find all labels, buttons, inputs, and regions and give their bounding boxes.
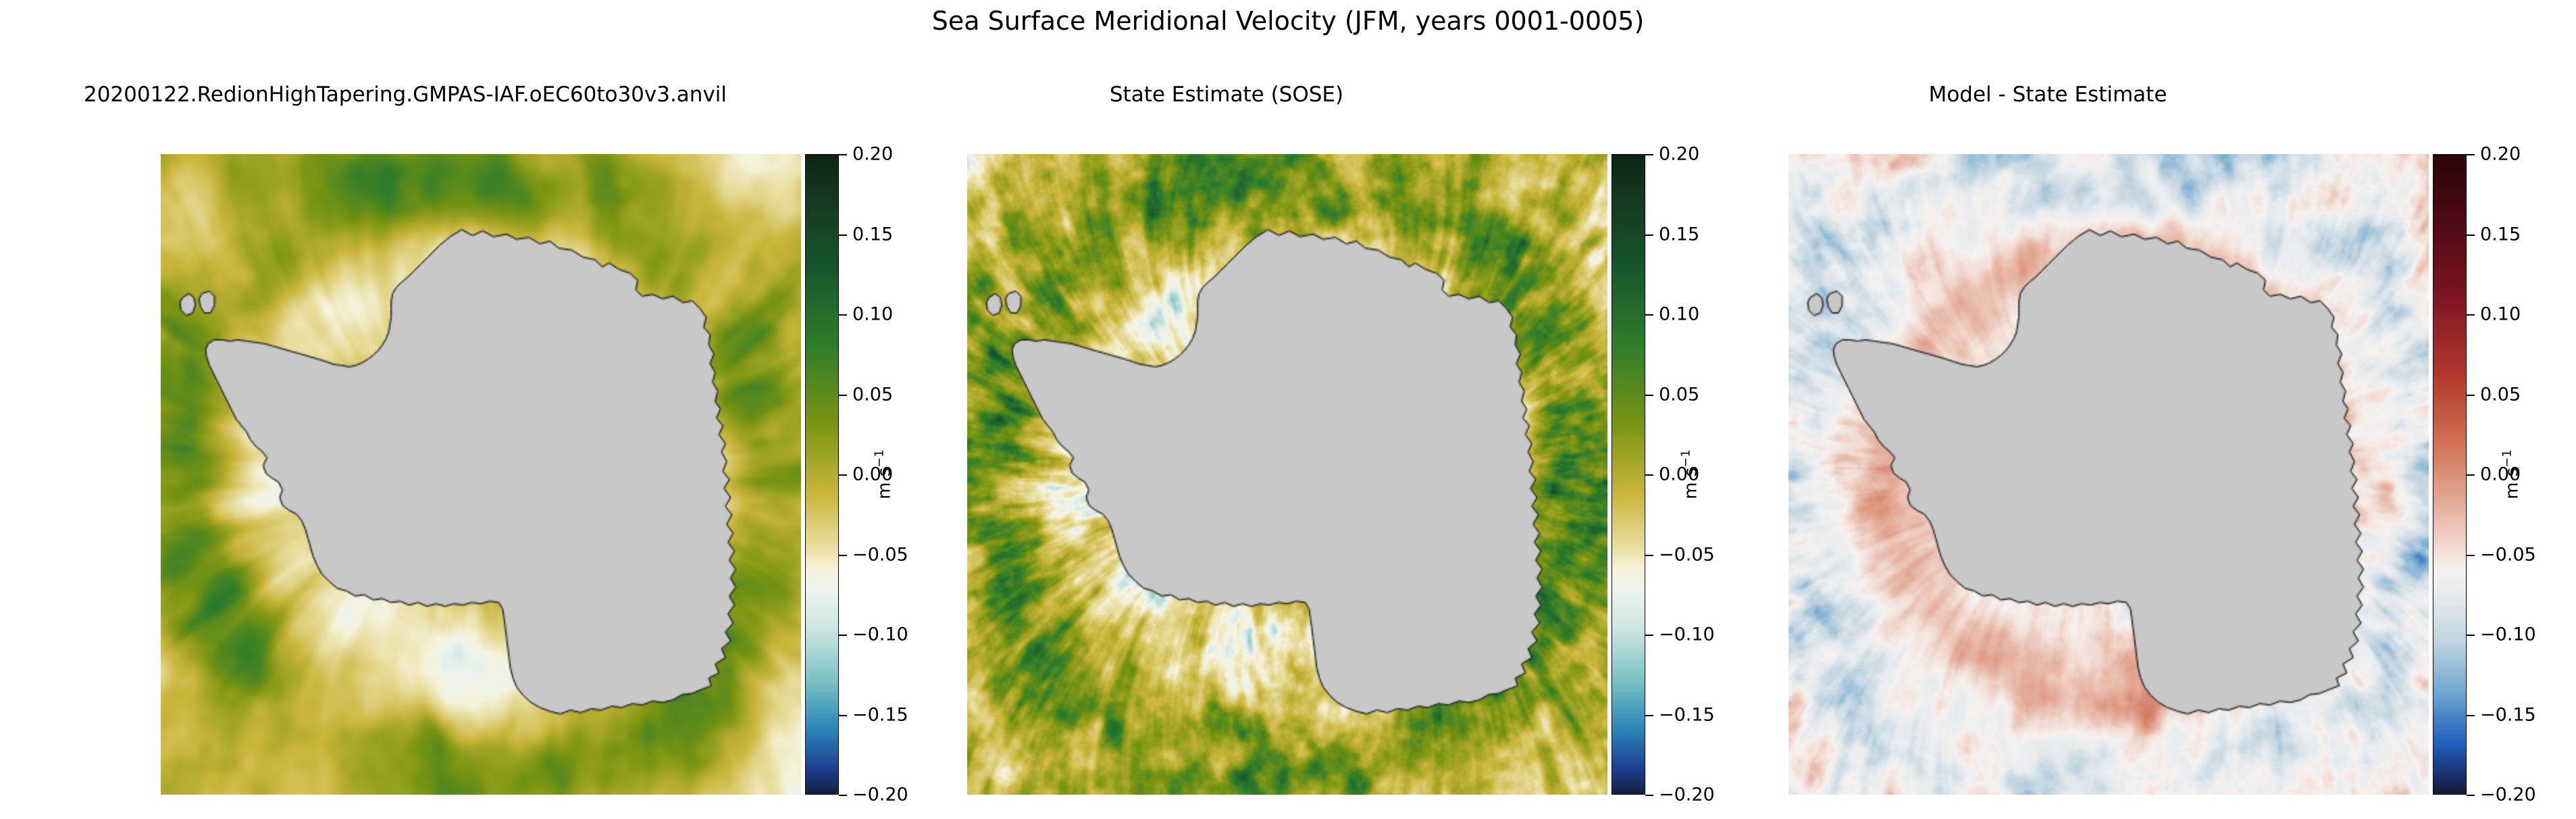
- colorbar-tick-mark: [2467, 395, 2475, 396]
- colorbar-tick-mark: [2467, 154, 2475, 155]
- colorbar-tick-mark: [2467, 234, 2475, 236]
- colorbar-tick-label: 0.10: [2480, 305, 2521, 324]
- colorbar-axis-label-difference: m s−1: [2500, 449, 2523, 499]
- colorbar-gradient-sose: [1612, 154, 1645, 795]
- map-heatmap-model: [161, 154, 801, 795]
- panel-title-difference: Model - State Estimate: [1643, 81, 2453, 108]
- colorbar-difference[interactable]: 0.200.150.100.050.00−0.05−0.10−0.15−0.20…: [2433, 154, 2471, 795]
- colorbar-ticks-difference: 0.200.150.100.050.00−0.05−0.10−0.15−0.20: [2467, 154, 2471, 795]
- panel-title-sose: State Estimate (SOSE): [821, 81, 1632, 108]
- colorbar-tick-label: −0.20: [2480, 786, 2536, 804]
- colorbar-tick-label: −0.10: [2480, 626, 2536, 644]
- colorbar-tick-mark: [2467, 795, 2475, 796]
- map-axes-difference[interactable]: [1788, 154, 2429, 795]
- colorbar-tick-mark: [2467, 715, 2475, 716]
- panel-difference: Model - State Estimate 0.200.150.100.050…: [1643, 81, 2453, 811]
- panel-sose: State Estimate (SOSE) 0.200.150.100.050.…: [821, 81, 1632, 811]
- colorbar-tick-mark: [2467, 474, 2475, 476]
- colorbar-tick-label: 0.15: [2480, 225, 2521, 243]
- map-heatmap-difference: [1788, 154, 2429, 795]
- panel-title-model: 20200122.RedionHighTapering.GMPAS-IAF.oE…: [0, 81, 810, 108]
- colorbar-tick-label: 0.20: [2480, 145, 2521, 164]
- panel-model: 20200122.RedionHighTapering.GMPAS-IAF.oE…: [0, 81, 810, 811]
- colorbar-tick-mark: [2467, 635, 2475, 636]
- map-axes-model[interactable]: [161, 154, 801, 795]
- colorbar-tick-label: 0.05: [2480, 385, 2521, 403]
- map-axes-sose[interactable]: [967, 154, 1607, 795]
- colorbar-tick-mark: [2467, 555, 2475, 556]
- colorbar-tick-mark: [2467, 314, 2475, 316]
- colorbar-tick-label: −0.05: [2480, 545, 2536, 564]
- colorbar-gradient-difference: [2433, 154, 2467, 795]
- colorbar-tick-label: −0.15: [2480, 705, 2536, 724]
- map-heatmap-sose: [967, 154, 1607, 795]
- figure-title: Sea Surface Meridional Velocity (JFM, ye…: [0, 5, 2576, 36]
